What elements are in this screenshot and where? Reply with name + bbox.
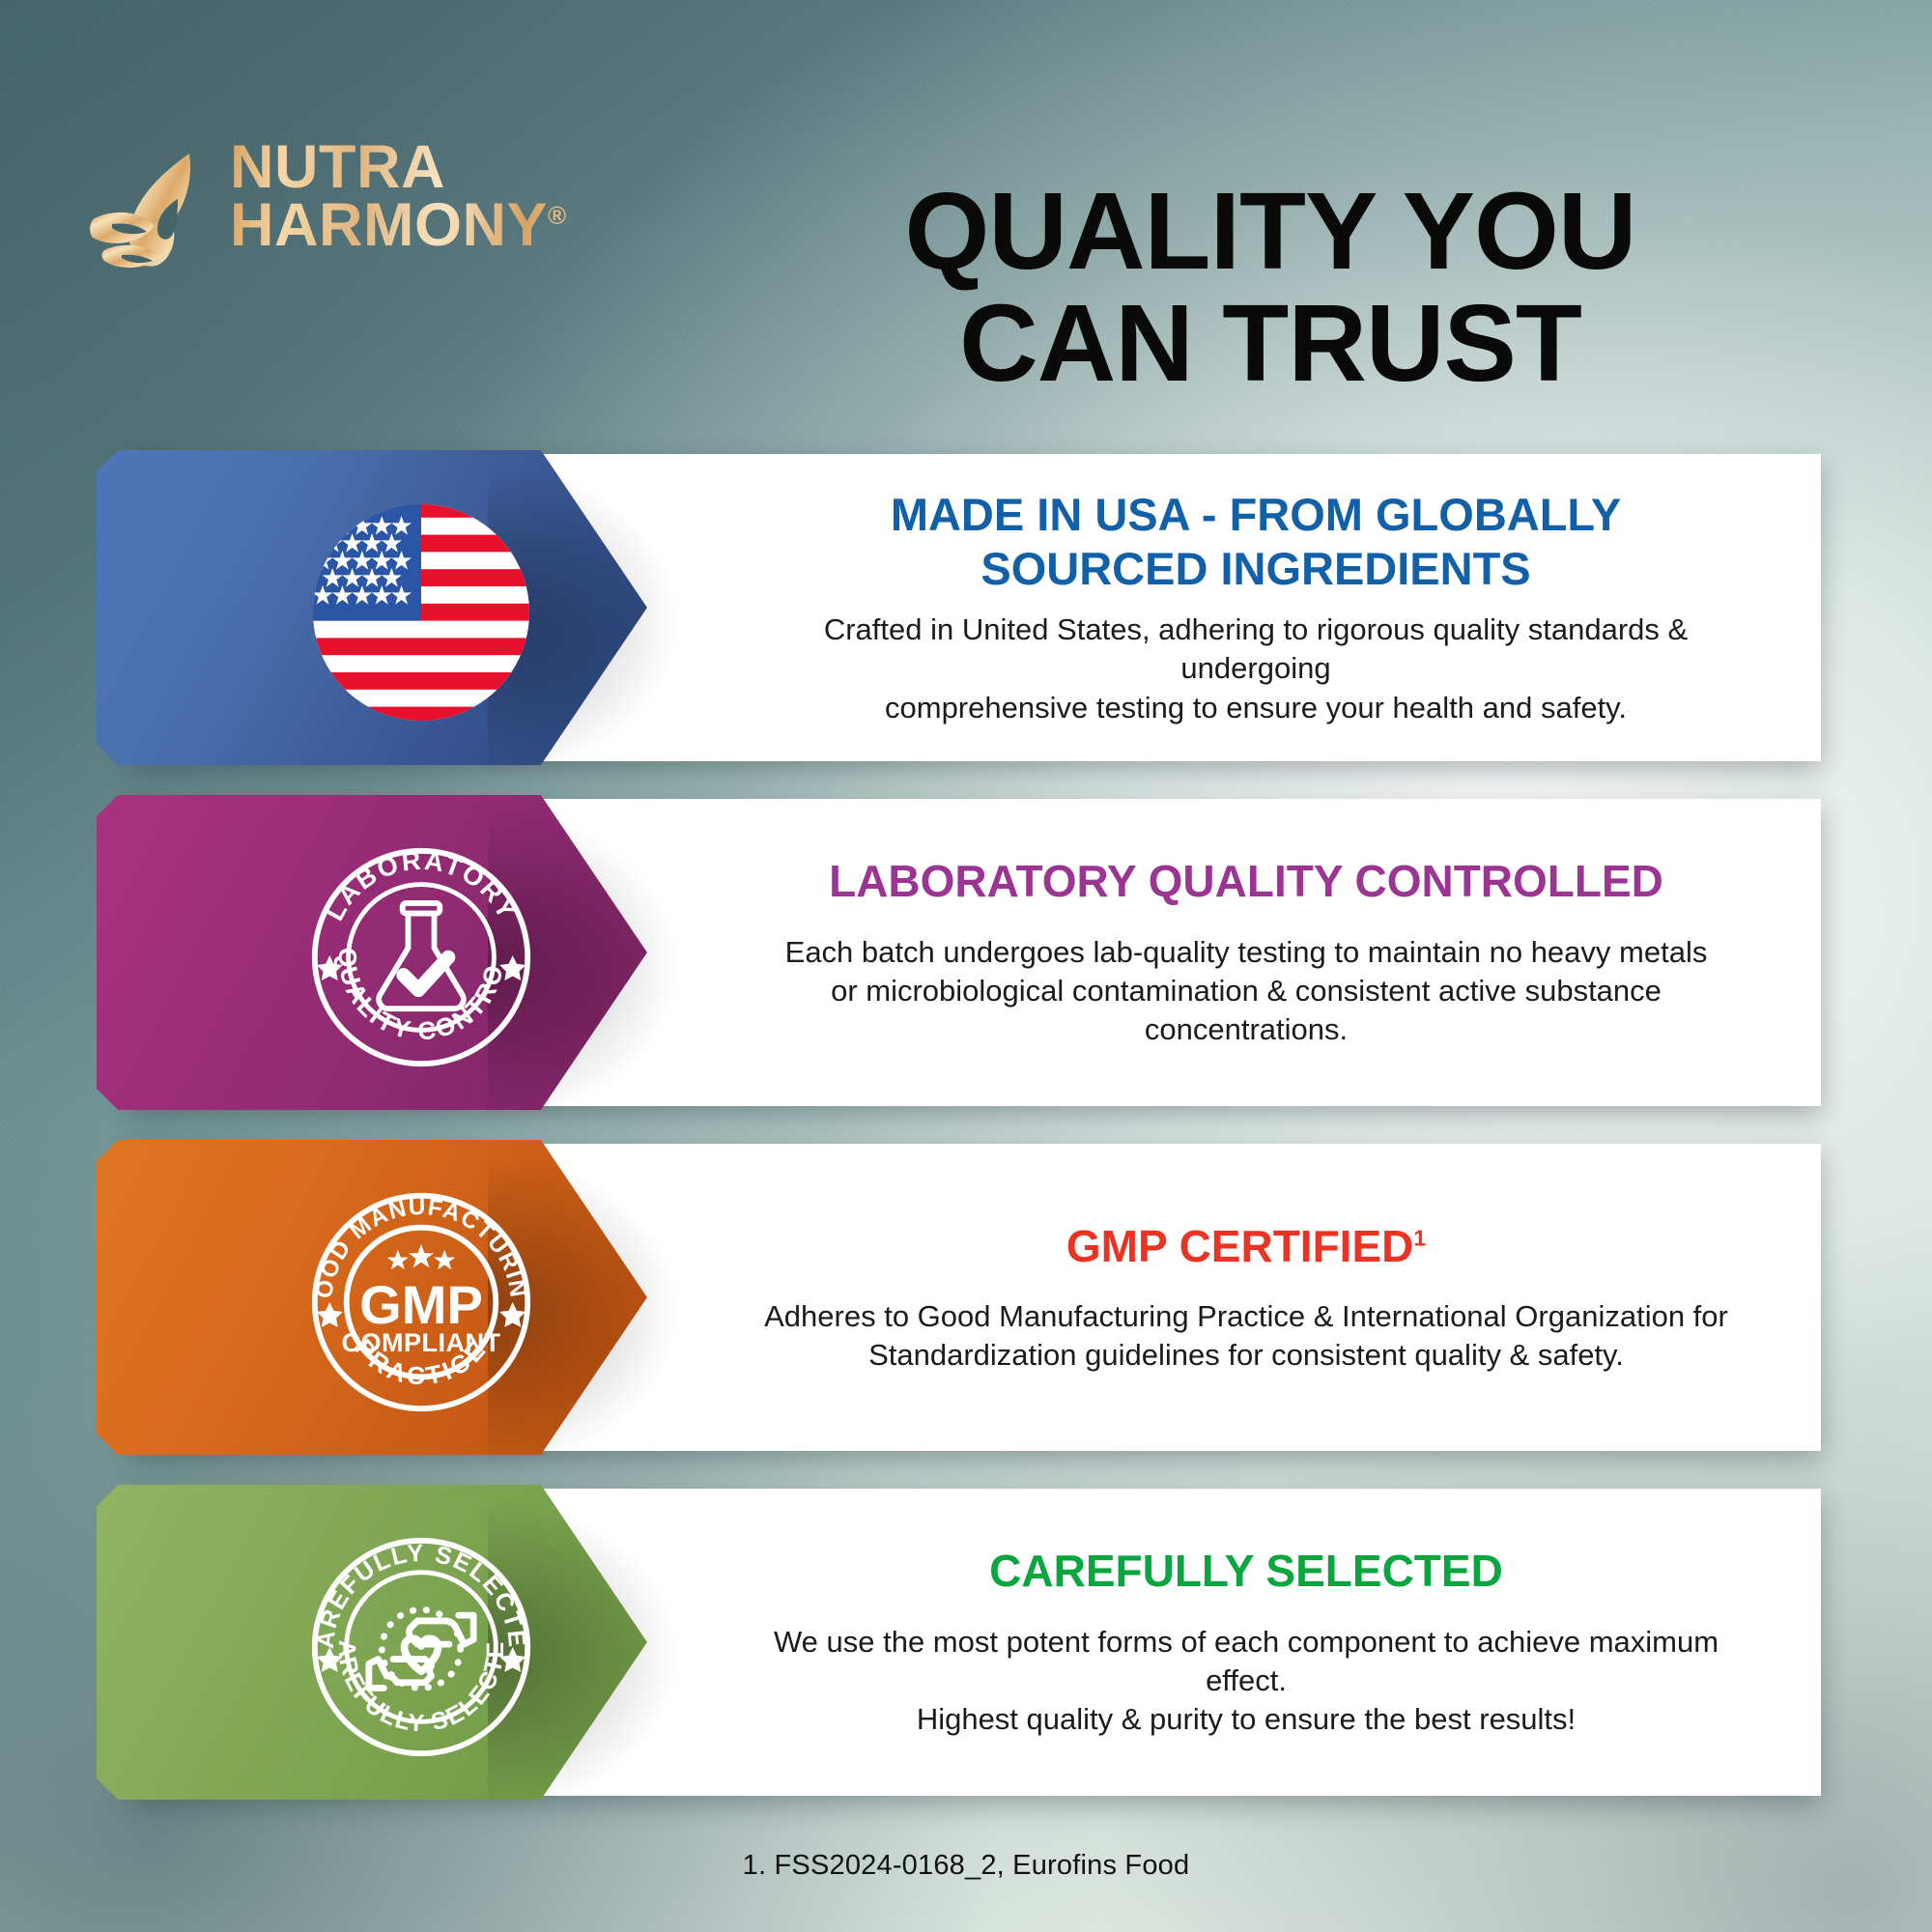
card-heading-line-1: LABORATORY QUALITY CONTROLLED: [829, 855, 1663, 907]
feature-card-carefully-selected: CAREFULLY SELECTED CAREFULLY SELECTED: [130, 1489, 1821, 1796]
carefully-selected-seal-icon: CAREFULLY SELECTED CAREFULLY SELECTED: [309, 1535, 533, 1759]
card-heading-made-in-usa: MADE IN USA - FROM GLOBALLY SOURCED INGR…: [891, 488, 1621, 595]
laboratory-quality-control-seal-icon: LABORATORY QUALITY CONTROL: [309, 845, 533, 1069]
card-heading-gmp: GMP CERTIFIED1: [1066, 1220, 1426, 1272]
svg-text:GMP: GMP: [359, 1274, 483, 1335]
page-title: QUALITY YOU CAN TRUST: [676, 175, 1864, 400]
card-heading-line-2: SOURCED INGREDIENTS: [891, 542, 1621, 595]
card-text-line-2: comprehensive testing to ensure your hea…: [885, 691, 1627, 724]
card-text-line-1: Crafted in United States, adhering to ri…: [824, 612, 1688, 685]
card-text-made-in-usa: Crafted in United States, adhering to ri…: [753, 611, 1759, 727]
card-text-line-2: Standardization guidelines for consisten…: [868, 1338, 1624, 1372]
registered-mark: ®: [548, 201, 567, 230]
feature-card-laboratory: LABORATORY QUALITY CONTROL LABORATORY QU…: [130, 799, 1821, 1106]
logo-line-2: HARMONY®: [230, 197, 636, 255]
card-heading-carefully-selected: CAREFULLY SELECTED: [989, 1545, 1503, 1597]
feature-card-gmp: GOOD MANUFACTURING PRACTICE GMP COMPLIAN…: [130, 1144, 1821, 1451]
card-heading-line-1: MADE IN USA - FROM GLOBALLY: [891, 488, 1621, 541]
gmp-compliant-seal-icon: GOOD MANUFACTURING PRACTICE GMP COMPLIAN…: [309, 1190, 533, 1414]
card-heading-laboratory: LABORATORY QUALITY CONTROLLED: [829, 855, 1663, 907]
logo-line-1: NUTRA: [230, 139, 636, 197]
card-text-line-1: We use the most potent forms of each com…: [774, 1625, 1719, 1697]
feature-card-made-in-usa: MADE IN USA - FROM GLOBALLY SOURCED INGR…: [130, 454, 1821, 761]
leaf-logo-icon: [85, 149, 230, 274]
card-text-line-2: Highest quality & purity to ensure the b…: [917, 1702, 1576, 1736]
card-heading-superscript: 1: [1413, 1225, 1426, 1250]
card-text-laboratory: Each batch undergoes lab-quality testing…: [733, 933, 1759, 1050]
card-text-gmp: Adheres to Good Manufacturing Practice &…: [764, 1297, 1728, 1376]
card-text-line-1: Each batch undergoes lab-quality testing…: [785, 935, 1708, 969]
footnote: 1. FSS2024-0168_2, Eurofins Food: [0, 1850, 1932, 1882]
usa-flag-circle-icon: [309, 500, 533, 724]
card-heading-line-1: CAREFULLY SELECTED: [989, 1545, 1503, 1597]
card-heading-line-1: GMP CERTIFIED: [1066, 1221, 1414, 1271]
svg-text:COMPLIANT: COMPLIANT: [341, 1328, 500, 1357]
svg-text:CAREFULLY SELECTED: CAREFULLY SELECTED: [309, 1535, 530, 1650]
card-text-line-2: or microbiological contamination & consi…: [831, 974, 1662, 1046]
card-text-line-1: Adheres to Good Manufacturing Practice &…: [764, 1299, 1728, 1333]
page-title-line-2: CAN TRUST: [676, 287, 1864, 399]
page-title-line-1: QUALITY YOU: [676, 175, 1864, 287]
card-text-carefully-selected: We use the most potent forms of each com…: [733, 1623, 1759, 1740]
brand-logo: NUTRA HARMONY®: [85, 145, 568, 280]
